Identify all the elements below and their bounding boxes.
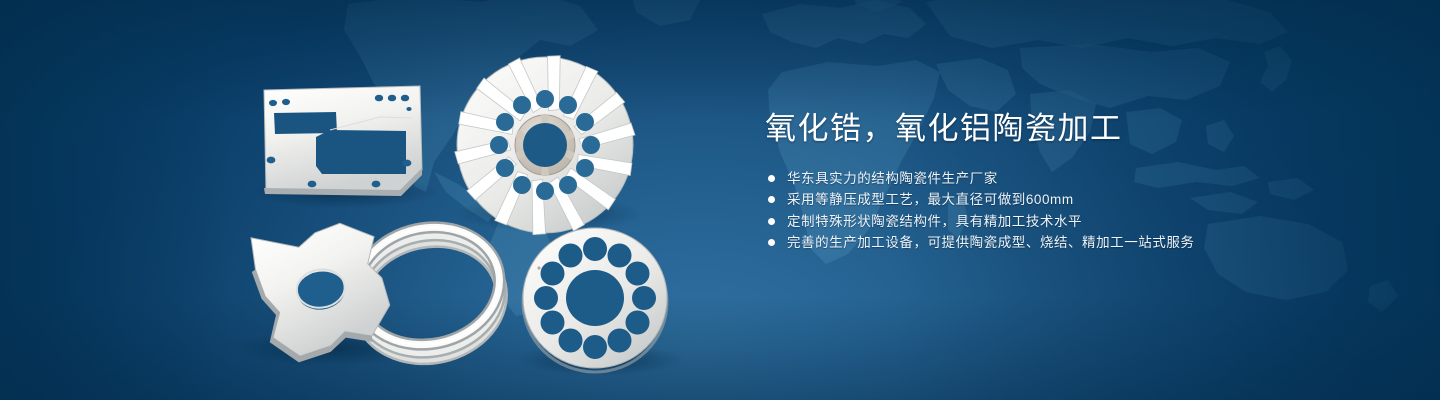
list-item-label: 定制特殊形状陶瓷结构件，具有精加工技术水平 xyxy=(787,214,1082,229)
ceramic-plate-part xyxy=(264,86,422,196)
list-item-label: 完善的生产加工设备，可提供陶瓷成型、烧结、精加工一站式服务 xyxy=(787,235,1194,250)
bullet-dot-icon xyxy=(768,239,775,246)
bullet-dot-icon xyxy=(768,218,775,225)
product-photo-cluster xyxy=(0,0,720,400)
list-item: 采用等静压成型工艺，最大直径可做到600mm xyxy=(765,189,1365,210)
list-item: 定制特殊形状陶瓷结构件，具有精加工技术水平 xyxy=(765,211,1365,232)
list-item-label: 采用等静压成型工艺，最大直径可做到600mm xyxy=(787,192,1074,207)
list-item-label: 华东具实力的结构陶瓷件生产厂家 xyxy=(787,171,998,186)
banner-copy: 氧化锆，氧化铝陶瓷加工 华东具实力的结构陶瓷件生产厂家 采用等静压成型工艺，最大… xyxy=(765,108,1365,253)
bullet-dot-icon xyxy=(768,175,775,182)
bullet-dot-icon xyxy=(768,196,775,203)
feature-list: 华东具实力的结构陶瓷件生产厂家 采用等静压成型工艺，最大直径可做到600mm 定… xyxy=(765,168,1365,253)
list-item: 华东具实力的结构陶瓷件生产厂家 xyxy=(765,168,1365,189)
list-item: 完善的生产加工设备，可提供陶瓷成型、烧结、精加工一站式服务 xyxy=(765,232,1365,253)
page-title: 氧化锆，氧化铝陶瓷加工 xyxy=(765,108,1365,150)
ceramic-perforated-ring-part xyxy=(523,228,667,372)
promo-banner: 氧化锆，氧化铝陶瓷加工 华东具实力的结构陶瓷件生产厂家 采用等静压成型工艺，最大… xyxy=(0,0,1440,400)
